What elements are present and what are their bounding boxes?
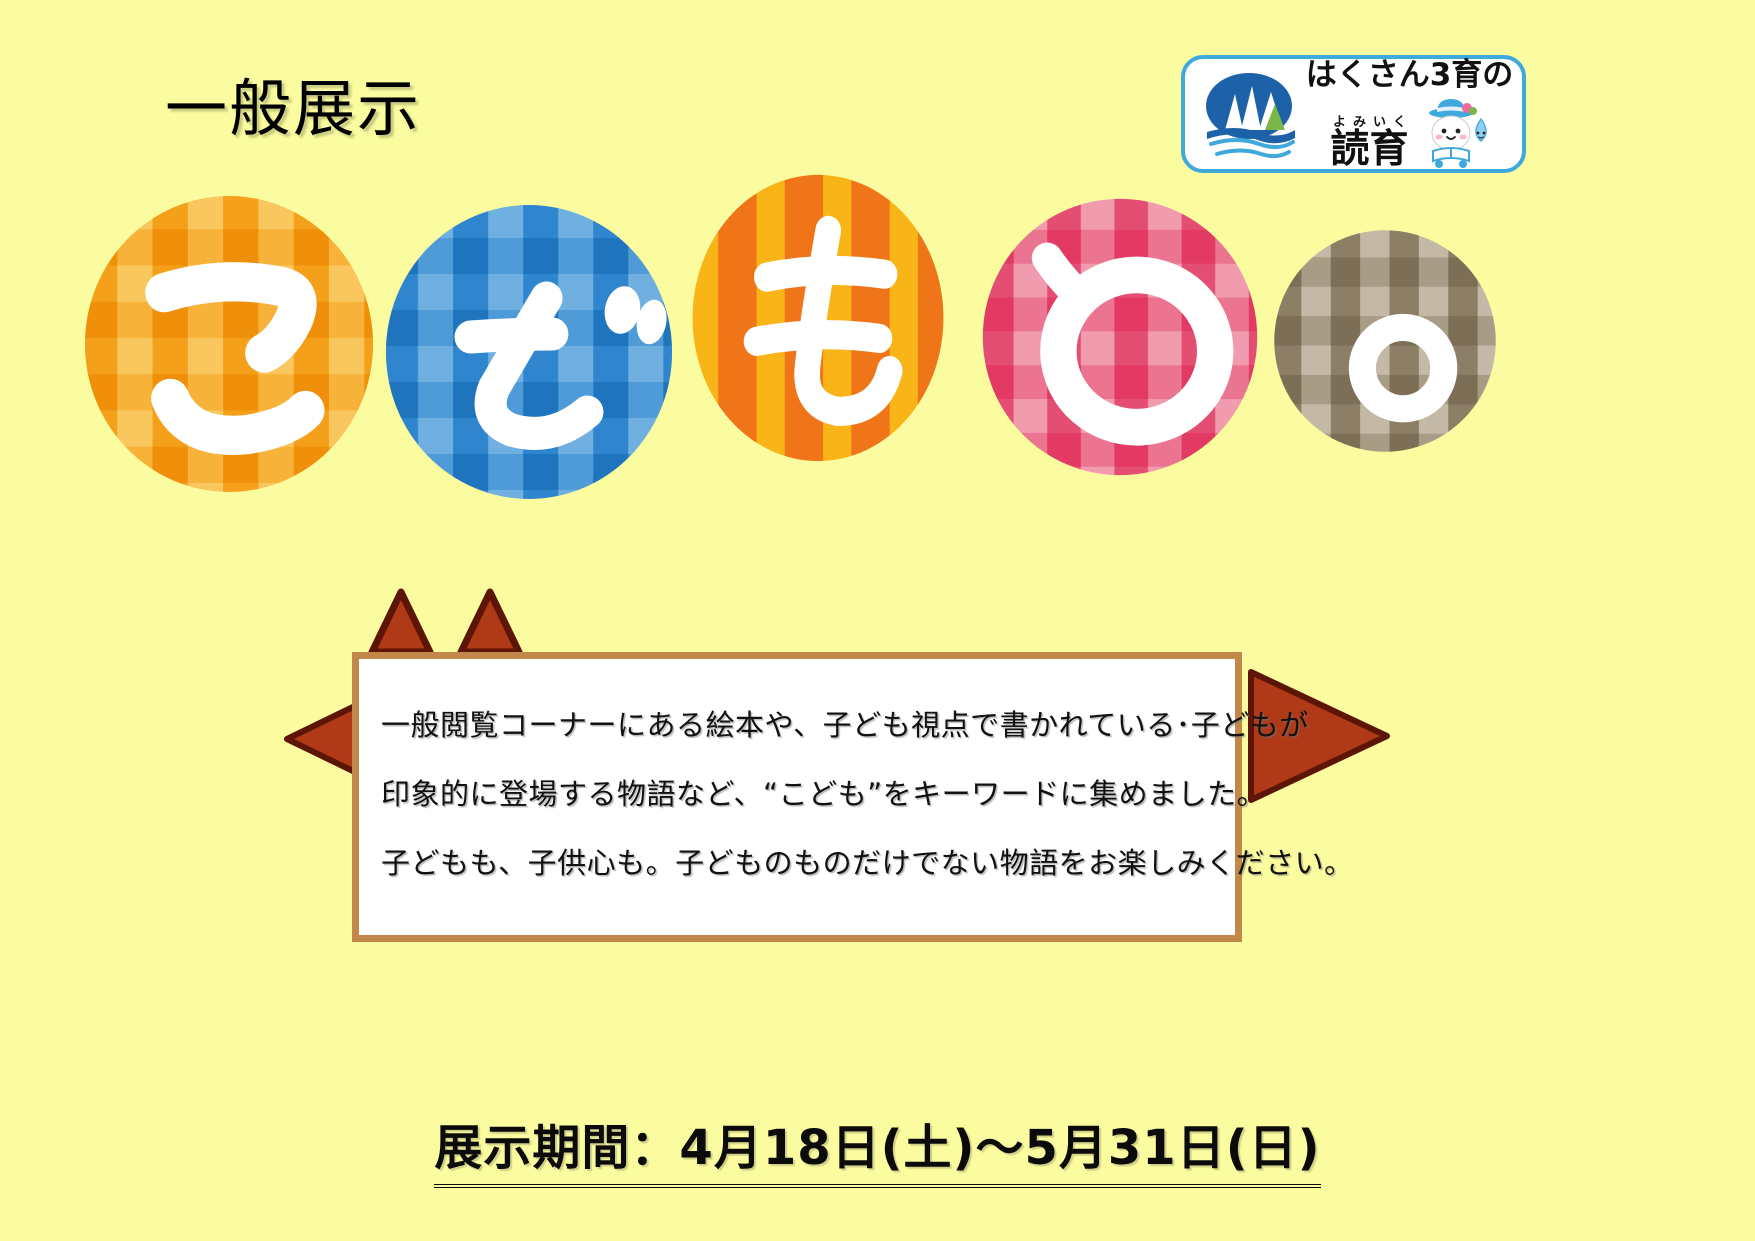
exhibition-period-row: 展示期間：4月18日(土)〜5月31日(日)	[0, 1108, 1755, 1188]
kana-circle-no	[980, 196, 1260, 478]
page-title: 一般展示	[165, 58, 421, 148]
description-text: 一般閲覧コーナーにある絵本や、子ども視点で書かれている･子どもが 印象的に登場す…	[359, 659, 1235, 878]
logo-text-block: はくさん3育の よみいく 読育	[1305, 59, 1514, 169]
kana-circle-mo	[690, 172, 946, 464]
kana-circle-maru	[1272, 228, 1498, 454]
kana-circle-ko	[82, 193, 376, 495]
logo-line-2-row: よみいく 読育	[1326, 93, 1493, 169]
logo-ruby-stack: よみいく 読育	[1326, 116, 1413, 169]
exhibition-period-text: 展示期間：4月18日(土)〜5月31日(日)	[434, 1108, 1320, 1188]
description-line-2: 印象的に登場する物語など、“こども”をキーワードに集めました。	[381, 780, 1207, 809]
water-drop-mascot-icon	[1421, 93, 1493, 169]
hakusan-mountain-logo-icon	[1195, 66, 1303, 162]
triangle-up-icon-2	[457, 588, 523, 656]
triangle-left-icon	[283, 700, 359, 778]
triangle-up-icon-1	[368, 588, 434, 656]
hakusan-logo-badge: はくさん3育の よみいく 読育	[1181, 55, 1526, 173]
description-line-3: 子どもも、子供心も。子どものものだけでない物語をお楽しみください。	[381, 849, 1207, 878]
kana-circle-do	[383, 202, 675, 502]
description-box: 一般閲覧コーナーにある絵本や、子ども視点で書かれている･子どもが 印象的に登場す…	[352, 652, 1242, 942]
logo-line-1: はくさん3育の	[1306, 59, 1514, 92]
logo-line-2: 読育	[1330, 130, 1408, 169]
description-line-1: 一般閲覧コーナーにある絵本や、子ども視点で書かれている･子どもが	[381, 711, 1207, 740]
